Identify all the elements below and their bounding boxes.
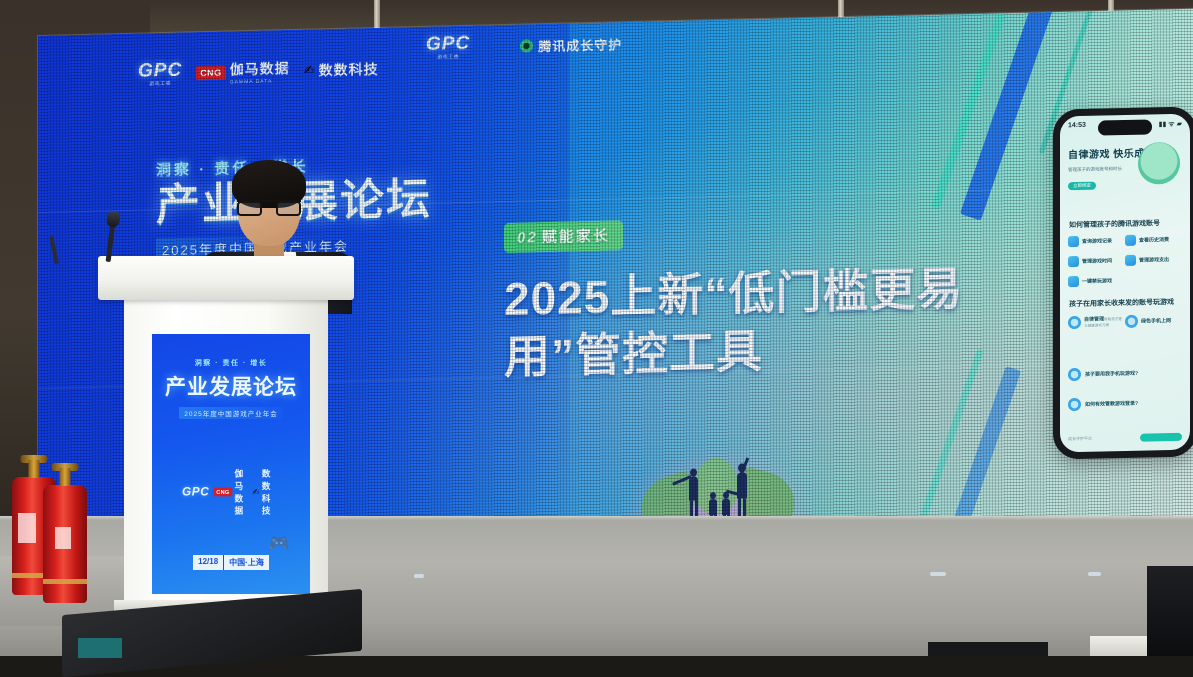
cta-button[interactable] — [1140, 433, 1182, 442]
podium: 洞察 · 责任 · 增长 产业发展论坛 2025年度中国游戏产业年会 GPC C… — [98, 256, 354, 616]
gpc-logo: GPC — [182, 486, 209, 498]
shushu-logo-text: 数数科技 — [319, 59, 379, 80]
phone-tab-bar[interactable]: 成长守护平台 — [1068, 431, 1182, 445]
cng-badge: CNG — [196, 66, 226, 81]
eyeglasses-icon — [237, 200, 301, 215]
podium-date: 12/18 — [193, 555, 223, 570]
help-label: 自律管理帮助孩子建立健康游戏习惯 — [1084, 316, 1125, 329]
feature-item[interactable]: 查看历史消费 — [1125, 234, 1182, 246]
foreground-object — [928, 642, 1048, 656]
top-center-logo-row: GPC 游戏工委 腾讯成长守护 — [426, 30, 622, 61]
podium-screen: 洞察 · 责任 · 增长 产业发展论坛 2025年度中国游戏产业年会 GPC C… — [152, 334, 310, 594]
cng-badge: CNG — [214, 488, 232, 497]
headline-line-1: 2025上新“低门槛更易 — [504, 259, 1024, 329]
phone-section-2-title: 孩子在用家长收来发的账号玩游戏 — [1069, 297, 1174, 309]
feature-label: 查询游戏记录 — [1082, 238, 1112, 245]
growth-guard-logo-text: 腾讯成长守护 — [538, 34, 622, 55]
help-sub: 帮助孩子建立健康游戏习惯 — [1084, 317, 1122, 328]
help-item[interactable]: 如何有效管教游戏登录? — [1068, 396, 1182, 411]
gpc-logo-text: GPC — [426, 34, 470, 54]
lock-icon — [1068, 276, 1079, 287]
feature-label: 一键禁玩游戏 — [1082, 278, 1112, 285]
game-controller-icon: 🎮 — [269, 534, 290, 554]
feature-label: 管理游戏时间 — [1082, 258, 1112, 265]
podium-key-visual: 洞察 · 责任 · 增长 产业发展论坛 2025年度中国游戏产业年会 — [152, 358, 310, 421]
podium-top — [98, 256, 354, 300]
self-discipline-icon — [1068, 316, 1081, 329]
mascot-avatar — [1138, 142, 1180, 185]
foreground-equipment — [1147, 566, 1193, 656]
phone-feature-grid: 查询游戏记录 查看历史消费 管理游戏时间 管理游戏支出 一键禁玩游戏 — [1068, 234, 1182, 296]
section-badge: 02赋能家长 — [504, 220, 623, 253]
cng-logo: CNG 伽马数据 — [214, 467, 248, 517]
podium-title: 产业发展论坛 — [152, 371, 310, 401]
help-item[interactable]: 孩子要用我手机玩游戏? — [1068, 366, 1182, 381]
shushu-logo: ✍ 数数科技 — [252, 467, 280, 517]
foreground-object — [78, 638, 122, 658]
help-item[interactable]: 自律管理帮助孩子建立健康游戏习惯 — [1068, 315, 1125, 329]
help-item[interactable]: 绿色手机上网 — [1125, 314, 1182, 328]
floor-debris — [1088, 572, 1101, 576]
extinguisher-label — [55, 527, 71, 549]
extinguisher-band — [43, 579, 87, 584]
floor-debris — [414, 574, 424, 578]
phone-help-grid: 自律管理帮助孩子建立健康游戏习惯 绿色手机上网 — [1068, 314, 1182, 338]
floor-debris — [930, 572, 946, 576]
phone-share-icon — [1068, 368, 1081, 381]
podium-logo-row: GPC CNG 伽马数据 ✍ 数数科技 — [182, 467, 280, 517]
section-badge-number: 02 — [517, 229, 538, 246]
cng-logo-text: 伽马数据 — [230, 58, 290, 79]
cng-logo-text: 伽马数据 — [235, 467, 249, 517]
section-badge-text: 赋能家长 — [542, 228, 610, 247]
hand-icon: ✍ — [304, 62, 315, 78]
figure-body — [689, 476, 698, 500]
extinguisher-neck — [60, 468, 71, 486]
extinguisher-neck — [29, 460, 40, 478]
shushu-logo: ✍ 数数科技 — [304, 59, 379, 81]
fire-extinguisher — [43, 485, 87, 603]
hero-bind-button[interactable]: 立即绑定 — [1068, 181, 1096, 190]
guide-icon — [1068, 398, 1081, 411]
phone-status-bar: 14:53 ▮▮ ᯤ ▰ — [1068, 120, 1182, 131]
clock-icon — [1068, 256, 1079, 267]
podium-year-line: 2025年度中国游戏产业年会 — [179, 407, 282, 419]
record-icon — [1068, 236, 1079, 247]
feature-item[interactable]: 查询游戏记录 — [1068, 235, 1125, 247]
feature-label: 管理游戏支出 — [1139, 257, 1169, 264]
help-label: 孩子要用我手机玩游戏? — [1085, 370, 1138, 377]
gpc-logo-text: GPC — [182, 486, 209, 498]
status-icons: ▮▮ ᯤ ▰ — [1159, 120, 1182, 129]
help-label: 绿色手机上网 — [1141, 318, 1171, 325]
podium-subtitle: 洞察 · 责任 · 增长 — [152, 358, 310, 368]
conference-stage-scene: GPC 游戏工委 腾讯成长守护 GPC 游戏工委 CNG 伽马数据 GAMMA … — [0, 0, 1193, 656]
podium-location: 中国·上海 — [223, 555, 269, 570]
green-circle-icon — [520, 39, 533, 52]
feature-item[interactable]: 管理游戏支出 — [1125, 254, 1182, 266]
green-internet-icon — [1125, 315, 1138, 328]
hand-icon: ✍ — [252, 487, 259, 497]
cng-logo: CNG 伽马数据 GAMMA DATA — [196, 58, 290, 86]
extinguisher-label — [18, 513, 36, 543]
wallet-icon — [1125, 255, 1136, 266]
figure-body — [722, 499, 730, 515]
growth-guard-logo: 腾讯成长守护 — [520, 34, 622, 55]
feature-item[interactable]: 管理游戏时间 — [1068, 255, 1125, 267]
history-icon — [1125, 235, 1136, 246]
shushu-logo-text: 数数科技 — [262, 467, 280, 517]
phone-mockup: 14:53 ▮▮ ᯤ ▰ 自律游戏 快乐成长 管理孩子的游戏账号和时长 立即绑定… — [1053, 106, 1193, 459]
phone-hero: 自律游戏 快乐成长 管理孩子的游戏账号和时长 立即绑定 — [1068, 144, 1182, 208]
feature-item[interactable]: 一键禁玩游戏 — [1068, 275, 1125, 287]
figure-body — [709, 499, 717, 515]
phone-section-1-title: 如何管理孩子的腾讯游戏账号 — [1069, 218, 1160, 230]
gpc-logo-tagline: 游戏工委 — [437, 55, 459, 61]
status-time: 14:53 — [1068, 122, 1086, 131]
gpc-logo-text: GPC — [138, 61, 182, 81]
podium-date-row: 12/18 中国·上海 — [152, 555, 310, 570]
gpc-logo: GPC 游戏工委 — [426, 34, 470, 61]
gpc-logo: GPC 游戏工委 — [138, 61, 182, 88]
tab-label: 成长守护平台 — [1068, 436, 1092, 443]
feature-label: 查看历史消费 — [1139, 237, 1169, 244]
help-label: 如何有效管教游戏登录? — [1085, 400, 1138, 407]
gpc-logo-tagline: 游戏工委 — [149, 82, 171, 88]
